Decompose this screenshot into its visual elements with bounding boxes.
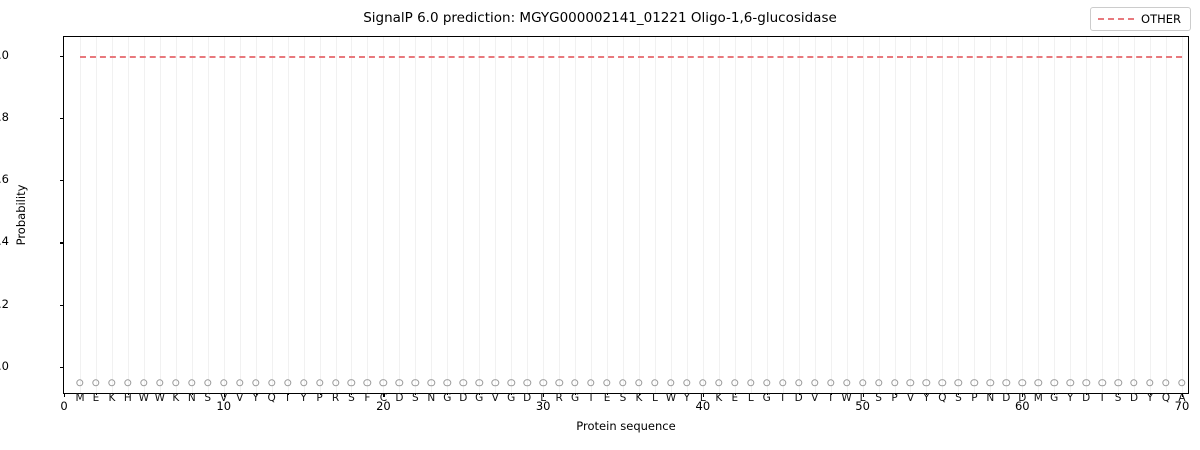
x-tick-minor — [160, 393, 161, 395]
x-tick-minor — [799, 393, 800, 395]
x-tick-minor — [607, 393, 608, 395]
residue-marker — [571, 379, 578, 386]
residue-marker — [635, 379, 642, 386]
residue-marker — [683, 379, 690, 386]
x-tick-mark — [703, 393, 704, 397]
residue-label: V — [907, 393, 914, 404]
y-tick-label: 0.0 — [0, 359, 9, 373]
x-tick-mark — [224, 393, 225, 397]
residue-label: D — [1002, 393, 1010, 404]
residue-marker — [779, 379, 786, 386]
y-axis-label: Probability — [14, 185, 28, 246]
residue-label: Y — [300, 393, 306, 404]
residue-marker — [651, 379, 658, 386]
residue-marker — [460, 379, 467, 386]
residue-marker — [811, 379, 818, 386]
residue-marker — [891, 379, 898, 386]
residue-marker — [1051, 379, 1058, 386]
residue-marker — [252, 379, 259, 386]
chart-title: SignalP 6.0 prediction: MGYG000002141_01… — [0, 10, 1200, 26]
y-tick-mark — [60, 305, 64, 306]
y-tick-label: 0.8 — [0, 110, 9, 124]
residue-marker — [396, 379, 403, 386]
residue-label: Y — [1067, 393, 1073, 404]
residue-marker — [156, 379, 163, 386]
residue-marker — [300, 379, 307, 386]
residue-marker — [76, 379, 83, 386]
residue-marker — [268, 379, 275, 386]
residue-marker — [108, 379, 115, 386]
residue-marker — [795, 379, 802, 386]
residue-marker — [188, 379, 195, 386]
residue-marker — [699, 379, 706, 386]
residue-marker — [555, 379, 562, 386]
x-tick-label: 20 — [376, 399, 391, 413]
residue-label: L — [652, 393, 658, 404]
residue-label: P — [971, 393, 977, 404]
residue-marker — [220, 379, 227, 386]
x-tick-mark — [1182, 393, 1183, 397]
residue-label: N — [427, 393, 435, 404]
residue-marker — [827, 379, 834, 386]
residue-label: V — [236, 393, 243, 404]
x-axis-label: Protein sequence — [63, 419, 1189, 433]
x-tick-minor — [479, 393, 480, 395]
x-tick-minor — [320, 393, 321, 395]
residue-marker — [843, 379, 850, 386]
residue-marker — [92, 379, 99, 386]
x-tick-minor — [1118, 393, 1119, 395]
residue-label: W — [139, 393, 149, 404]
residue-marker — [1019, 379, 1026, 386]
x-tick-mark — [1022, 393, 1023, 397]
residue-label: V — [492, 393, 499, 404]
residue-marker — [332, 379, 339, 386]
residue-label: K — [715, 393, 722, 404]
residue-label: Y — [684, 393, 690, 404]
y-tick-mark — [60, 56, 64, 57]
x-tick-minor — [1150, 393, 1151, 395]
residue-marker — [619, 379, 626, 386]
x-tick-label: 60 — [1015, 399, 1030, 413]
y-tick-mark — [60, 118, 64, 119]
x-tick-minor — [128, 393, 129, 395]
residue-label: Q — [938, 393, 946, 404]
x-tick-minor — [831, 393, 832, 395]
series-line-other — [80, 56, 1182, 58]
x-tick-mark — [383, 393, 384, 397]
x-tick-minor — [767, 393, 768, 395]
x-tick-label: 0 — [60, 399, 67, 413]
residue-marker — [763, 379, 770, 386]
residue-marker — [923, 379, 930, 386]
x-tick-mark — [863, 393, 864, 397]
residue-label: K — [108, 393, 115, 404]
residue-marker — [587, 379, 594, 386]
residue-marker — [1162, 379, 1169, 386]
residue-label: K — [172, 393, 179, 404]
residue-label: I — [781, 393, 784, 404]
residue-marker — [955, 379, 962, 386]
x-tick-minor — [735, 393, 736, 395]
x-tick-label: 10 — [216, 399, 231, 413]
residue-marker — [971, 379, 978, 386]
residue-label: S — [620, 393, 627, 404]
residue-label: M — [1034, 393, 1043, 404]
y-tick-label: 0.2 — [0, 297, 9, 311]
residue-marker — [1130, 379, 1137, 386]
x-tick-minor — [256, 393, 257, 395]
residue-marker — [603, 379, 610, 386]
residue-marker — [444, 379, 451, 386]
residue-label: D — [459, 393, 467, 404]
y-tick-mark — [60, 367, 64, 368]
x-tick-minor — [351, 393, 352, 395]
residue-label: Q — [1162, 393, 1170, 404]
residue-marker — [284, 379, 291, 386]
residue-marker — [1067, 379, 1074, 386]
x-tick-minor — [415, 393, 416, 395]
x-tick-minor — [926, 393, 927, 395]
residue-marker — [380, 379, 387, 386]
residue-label: I — [1101, 393, 1104, 404]
residue-marker — [1146, 379, 1153, 386]
signalp-prediction-figure: SignalP 6.0 prediction: MGYG000002141_01… — [0, 0, 1200, 450]
x-tick-mark — [64, 393, 65, 397]
x-tick-label: 70 — [1175, 399, 1190, 413]
residue-marker — [428, 379, 435, 386]
residue-label: V — [811, 393, 818, 404]
x-tick-minor — [895, 393, 896, 395]
legend[interactable]: OTHER — [1090, 7, 1191, 31]
y-tick-label: 1.0 — [0, 48, 9, 62]
x-tick-mark — [543, 393, 544, 397]
y-tick-mark — [60, 242, 64, 243]
residue-label: I — [590, 393, 593, 404]
x-tick-minor — [511, 393, 512, 395]
residue-label: F — [364, 393, 370, 404]
x-tick-label: 30 — [536, 399, 551, 413]
residue-marker — [124, 379, 131, 386]
residue-marker — [1035, 379, 1042, 386]
x-tick-minor — [575, 393, 576, 395]
residue-marker — [859, 379, 866, 386]
plot-area: MEKHWWKNSVVYQIYPRSFCDSNGDGVGDLRGIESKLWYL… — [63, 36, 1189, 394]
residue-marker — [492, 379, 499, 386]
residue-marker — [987, 379, 994, 386]
legend-label-other: OTHER — [1141, 12, 1181, 26]
x-tick-label: 50 — [855, 399, 870, 413]
residue-marker — [875, 379, 882, 386]
x-tick-minor — [192, 393, 193, 395]
residue-marker — [1003, 379, 1010, 386]
residue-marker — [731, 379, 738, 386]
residue-marker — [316, 379, 323, 386]
y-tick-mark — [60, 180, 64, 181]
residue-label: R — [555, 393, 562, 404]
residue-label: D — [395, 393, 403, 404]
residue-label: Q — [267, 393, 275, 404]
x-tick-minor — [447, 393, 448, 395]
residue-marker — [539, 379, 546, 386]
residue-marker — [204, 379, 211, 386]
residue-marker — [364, 379, 371, 386]
residue-marker — [907, 379, 914, 386]
residue-label: D — [523, 393, 531, 404]
residue-label: S — [875, 393, 882, 404]
x-tick-minor — [958, 393, 959, 395]
x-tick-minor — [639, 393, 640, 395]
residue-marker — [523, 379, 530, 386]
legend-swatch-other — [1098, 18, 1134, 20]
residue-marker — [1098, 379, 1105, 386]
residue-marker — [508, 379, 515, 386]
residue-label: W — [841, 393, 851, 404]
residue-marker — [172, 379, 179, 386]
residue-marker — [747, 379, 754, 386]
x-tick-minor — [1086, 393, 1087, 395]
y-axis-label-container: Probability — [14, 36, 28, 394]
x-tick-minor — [671, 393, 672, 395]
residue-marker — [412, 379, 419, 386]
series-layer: MEKHWWKNSVVYQIYPRSFCDSNGDGVGDLRGIESKLWYL… — [64, 37, 1188, 393]
x-tick-minor — [96, 393, 97, 395]
residue-marker — [1082, 379, 1089, 386]
residue-marker — [939, 379, 946, 386]
residue-label: D — [1130, 393, 1138, 404]
residue-marker — [1178, 379, 1185, 386]
residue-marker — [476, 379, 483, 386]
y-tick-label: 0.4 — [0, 234, 9, 248]
residue-marker — [236, 379, 243, 386]
residue-marker — [667, 379, 674, 386]
x-tick-minor — [288, 393, 289, 395]
residue-marker — [1114, 379, 1121, 386]
x-tick-label: 40 — [696, 399, 711, 413]
y-tick-label: 0.6 — [0, 172, 9, 186]
residue-marker — [715, 379, 722, 386]
residue-marker — [140, 379, 147, 386]
residue-label: R — [332, 393, 339, 404]
residue-label: L — [748, 393, 754, 404]
x-tick-minor — [990, 393, 991, 395]
x-tick-minor — [1054, 393, 1055, 395]
residue-marker — [348, 379, 355, 386]
residue-label: S — [204, 393, 211, 404]
residue-label: M — [75, 393, 84, 404]
